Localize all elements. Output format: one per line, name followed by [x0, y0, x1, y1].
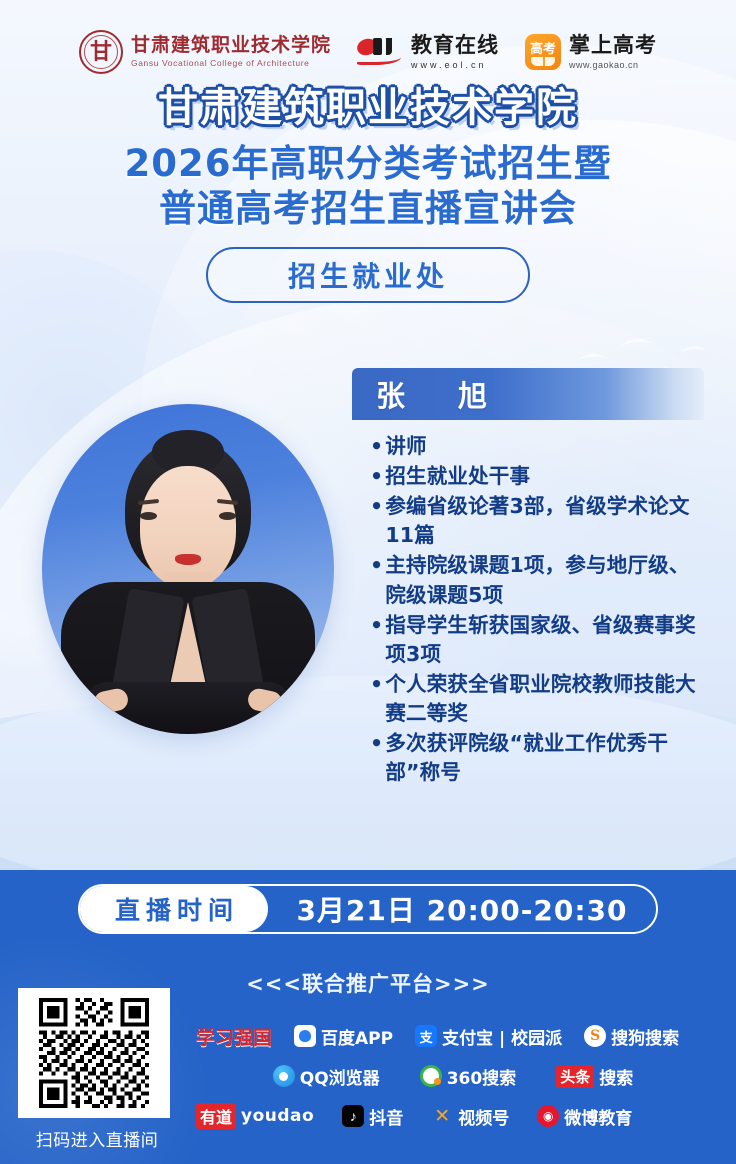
- platform-label: 搜狗搜索: [611, 1024, 679, 1049]
- platform-alipay-campus[interactable]: 支 支付宝 | 校园派: [415, 1024, 562, 1049]
- qr-code-block: 扫码进入直播间: [18, 988, 176, 1151]
- bio-item: •讲师: [370, 432, 700, 461]
- bullet-icon: •: [370, 611, 383, 640]
- title-block: 甘肃建筑职业技术学院 2026年高职分类考试招生暨 普通高考招生直播宣讲会 招生…: [0, 86, 736, 303]
- page-title-school: 甘肃建筑职业技术学院: [0, 86, 736, 131]
- 360-icon: [420, 1065, 442, 1087]
- logo-gansu-vocational-college-of-architecture: 甘 甘肃建筑职业技术学院 Gansu Vocational College of…: [79, 30, 331, 74]
- bio-text: 主持院级课题1项，参与地厅级、院级课题5项: [385, 551, 700, 609]
- eol-name-cn: 教育在线: [411, 35, 499, 56]
- platform-label: 支付宝 | 校园派: [442, 1024, 562, 1049]
- department-badge: 招生就业处: [206, 247, 530, 303]
- platform-row-3: 有道 youdao ♪ 抖音 ✕ 视频号 ◉ 微博教育: [196, 1096, 724, 1136]
- qr-caption: 扫码进入直播间: [18, 1126, 176, 1151]
- speaker-bio-list: •讲师 •招生就业处干事 •参编省级论著3部，省级学术论文11篇 •主持院级课题…: [352, 420, 704, 787]
- speaker-info: 张 旭 •讲师 •招生就业处干事 •参编省级论著3部，省级学术论文11篇 •主持…: [352, 368, 704, 788]
- platform-label: 微博教育: [564, 1104, 632, 1129]
- bio-text: 讲师: [385, 432, 700, 461]
- bullet-icon: •: [370, 462, 383, 491]
- logo-gaokao: 高考 掌上高考 www.gaokao.cn: [525, 34, 657, 70]
- college-name-en: Gansu Vocational College of Architecture: [131, 59, 331, 68]
- platform-360-search[interactable]: 360搜索: [420, 1064, 517, 1089]
- qr-code-image[interactable]: [18, 988, 170, 1118]
- platform-weibo-education[interactable]: ◉ 微博教育: [537, 1104, 632, 1129]
- seal-char: 甘: [90, 41, 112, 63]
- poster-root: 甘 甘肃建筑职业技术学院 Gansu Vocational College of…: [0, 0, 736, 1164]
- platform-youdao[interactable]: 有道 youdao: [196, 1103, 314, 1129]
- speaker-name: 张 旭: [376, 373, 499, 415]
- bullet-icon: •: [370, 492, 383, 521]
- bio-text: 指导学生斩获国家级、省级赛事奖项3项: [385, 611, 700, 669]
- youdao-icon: 有道: [196, 1103, 236, 1129]
- gaokao-icon: 高考: [525, 34, 561, 70]
- speaker-name-bar: 张 旭: [352, 368, 704, 420]
- bio-text: 参编省级论著3部，省级学术论文11篇: [385, 492, 700, 550]
- baidu-icon: [294, 1025, 316, 1047]
- platform-label: youdao: [241, 1106, 314, 1126]
- bio-item: •主持院级课题1项，参与地厅级、院级课题5项: [370, 551, 700, 609]
- college-name-cn: 甘肃建筑职业技术学院: [131, 36, 331, 55]
- platform-baidu-app[interactable]: 百度APP: [294, 1024, 393, 1049]
- bio-item: •个人荣获全省职业院校教师技能大赛二等奖: [370, 670, 700, 728]
- channels-icon: ✕: [431, 1105, 453, 1127]
- qq-browser-icon: [273, 1065, 295, 1087]
- platform-row-1: 学习强国 百度APP 支 支付宝 | 校园派 S 搜狗搜索: [196, 1016, 724, 1056]
- logo-eol: 教育在线 www.eol.cn: [357, 35, 499, 70]
- platform-xuexi-qiangguo[interactable]: 学习强国: [196, 1023, 272, 1050]
- page-subtitle-line1: 2026年高职分类考试招生暨: [0, 141, 736, 186]
- toutiao-icon: 头条: [556, 1065, 594, 1088]
- platform-label: QQ浏览器: [300, 1064, 380, 1089]
- page-subtitle-line2: 普通高考招生直播宣讲会: [0, 186, 736, 231]
- gaokao-name-cn: 掌上高考: [569, 35, 657, 56]
- alipay-icon: 支: [415, 1025, 437, 1047]
- bullet-icon: •: [370, 729, 383, 758]
- live-time-label-chip: 直播时间: [80, 886, 268, 932]
- platform-label: 抖音: [369, 1104, 403, 1129]
- bio-text: 个人荣获全省职业院校教师技能大赛二等奖: [385, 670, 700, 728]
- eol-icon: [357, 37, 403, 67]
- speaker-portrait: [42, 404, 334, 734]
- platform-label: 360搜索: [447, 1064, 517, 1089]
- gaokao-url: www.gaokao.cn: [569, 61, 657, 70]
- bio-item: •多次获评院级“就业工作优秀干部”称号: [370, 729, 700, 787]
- eol-url: www.eol.cn: [411, 61, 499, 70]
- platform-label: 搜索: [599, 1064, 633, 1089]
- bullet-icon: •: [370, 670, 383, 699]
- gaokao-badge-char: 高考: [530, 43, 556, 56]
- live-time-label: 直播时间: [109, 891, 239, 927]
- bio-item: •指导学生斩获国家级、省级赛事奖项3项: [370, 611, 700, 669]
- sogou-icon: S: [584, 1025, 606, 1047]
- header-logo-bar: 甘 甘肃建筑职业技术学院 Gansu Vocational College of…: [0, 22, 736, 82]
- live-time-value: 3月21日 20:00-20:30: [296, 889, 627, 929]
- platform-qq-browser[interactable]: QQ浏览器: [273, 1064, 380, 1089]
- platform-logo-rows: 学习强国 百度APP 支 支付宝 | 校园派 S 搜狗搜索 QQ浏览器: [196, 1016, 724, 1136]
- platform-row-2: QQ浏览器 360搜索 头条 搜索: [196, 1056, 724, 1096]
- bullet-icon: •: [370, 551, 383, 580]
- bio-item: •招生就业处干事: [370, 462, 700, 491]
- college-seal-icon: 甘: [79, 30, 123, 74]
- platform-toutiao-search[interactable]: 头条 搜索: [556, 1064, 633, 1089]
- platform-label: 百度APP: [321, 1024, 393, 1049]
- xuexi-icon: 学习强国: [196, 1023, 272, 1050]
- weibo-icon: ◉: [537, 1105, 559, 1127]
- bio-text: 招生就业处干事: [385, 462, 700, 491]
- live-time-banner: 直播时间 3月21日 20:00-20:30: [78, 884, 658, 934]
- bio-text: 多次获评院级“就业工作优秀干部”称号: [385, 729, 700, 787]
- platform-label: 视频号: [458, 1104, 509, 1129]
- douyin-icon: ♪: [342, 1105, 364, 1127]
- platform-channels[interactable]: ✕ 视频号: [431, 1104, 509, 1129]
- platform-sogou-search[interactable]: S 搜狗搜索: [584, 1024, 679, 1049]
- bio-item: •参编省级论著3部，省级学术论文11篇: [370, 492, 700, 550]
- department-label: 招生就业处: [288, 255, 448, 295]
- live-time-value-area: 3月21日 20:00-20:30: [268, 889, 656, 929]
- platform-douyin[interactable]: ♪ 抖音: [342, 1104, 403, 1129]
- bullet-icon: •: [370, 432, 383, 461]
